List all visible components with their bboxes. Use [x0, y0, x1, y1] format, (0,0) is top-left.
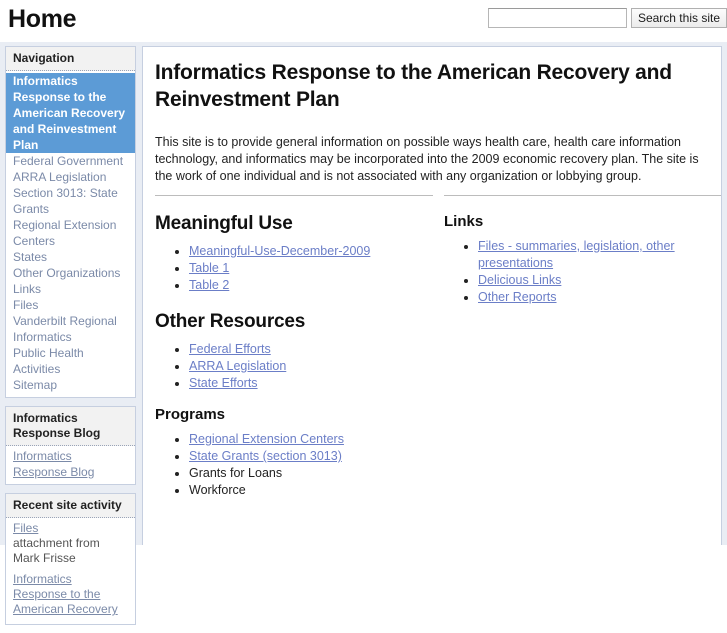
programs-item-0[interactable]: Regional Extension Centers [189, 431, 433, 448]
other-resources-link-1[interactable]: ARRA Legislation [189, 359, 286, 373]
links-item-0[interactable]: Files - summaries, legislation, other pr… [478, 238, 722, 272]
activity-link-1[interactable]: Informatics Response to the American Rec… [13, 572, 118, 616]
list-links: Files - summaries, legislation, other pr… [444, 238, 722, 306]
meaningful-use-link-0[interactable]: Meaningful-Use-December-2009 [189, 244, 370, 258]
content-title: Informatics Response to the American Rec… [155, 59, 709, 113]
main-content: Informatics Response to the American Rec… [142, 46, 722, 545]
sidebar-heading-activity: Recent site activity [6, 494, 135, 518]
meaningful-use-item-0[interactable]: Meaningful-Use-December-2009 [189, 243, 433, 260]
meaningful-use-link-2[interactable]: Table 2 [189, 278, 229, 292]
sidebar-nav-list: Informatics Response to the American Rec… [6, 71, 135, 393]
heading-meaningful-use: Meaningful Use [155, 213, 433, 235]
programs-item-3: Workforce [189, 482, 433, 499]
list-other-resources: Federal EffortsARRA LegislationState Eff… [155, 341, 433, 392]
activity-link-0[interactable]: Files [13, 521, 38, 535]
sidebar-nav-item-11[interactable]: Sitemap [6, 377, 135, 393]
heading-other-resources: Other Resources [155, 311, 433, 333]
links-item-1[interactable]: Delicious Links [478, 272, 722, 289]
sidebar-nav-item-7[interactable]: Links [6, 281, 135, 297]
sidebar-box-activity: Recent site activity Filesattachment fro… [5, 493, 136, 625]
sidebar-heading-blog: Informatics Response Blog [6, 407, 135, 446]
sidebar-nav-item-1[interactable]: Federal Government [6, 153, 135, 169]
sidebar-nav-item-10[interactable]: Public Health Activities [6, 345, 135, 377]
page-title: Home [8, 5, 76, 34]
sidebar-nav-item-2[interactable]: ARRA Legislation [6, 169, 135, 185]
sidebar-heading-navigation: Navigation [6, 47, 135, 71]
search-area: Search this site [488, 8, 727, 28]
right-column: Links Files - summaries, legislation, ot… [444, 195, 722, 499]
sidebar-nav-item-9[interactable]: Vanderbilt Regional Informatics [6, 313, 135, 345]
programs-link-0[interactable]: Regional Extension Centers [189, 432, 344, 446]
meaningful-use-link-1[interactable]: Table 1 [189, 261, 229, 275]
activity-item-0: Filesattachment from Mark Frisse [6, 518, 135, 569]
sidebar-nav-item-6[interactable]: Other Organizations [6, 265, 135, 281]
other-resources-item-1[interactable]: ARRA Legislation [189, 358, 433, 375]
intro-paragraph: This site is to provide general informat… [155, 134, 705, 185]
search-button[interactable]: Search this site [631, 8, 727, 28]
links-link-1[interactable]: Delicious Links [478, 273, 561, 287]
other-resources-item-2[interactable]: State Efforts [189, 375, 433, 392]
sidebar-blog-list: Informatics Response Blog [6, 446, 135, 480]
programs-link-1[interactable]: State Grants (section 3013) [189, 449, 342, 463]
list-programs: Regional Extension CentersState Grants (… [155, 431, 433, 499]
right-column-divider [444, 195, 722, 196]
content-columns: Meaningful Use Meaningful-Use-December-2… [155, 195, 709, 499]
left-column-divider [155, 195, 433, 196]
other-resources-link-2[interactable]: State Efforts [189, 376, 258, 390]
activity-item-1: Informatics Response to the American Rec… [6, 569, 135, 620]
links-item-2[interactable]: Other Reports [478, 289, 722, 306]
meaningful-use-item-2[interactable]: Table 2 [189, 277, 433, 294]
sidebar-box-blog: Informatics Response Blog Informatics Re… [5, 406, 136, 485]
links-link-2[interactable]: Other Reports [478, 290, 557, 304]
other-resources-item-0[interactable]: Federal Efforts [189, 341, 433, 358]
programs-item-2: Grants for Loans [189, 465, 433, 482]
activity-meta-0: attachment from Mark Frisse [13, 536, 129, 566]
sidebar-blog-link-0[interactable]: Informatics Response Blog [6, 448, 135, 480]
sidebar-nav-item-0[interactable]: Informatics Response to the American Rec… [6, 73, 135, 153]
search-input[interactable] [488, 8, 627, 28]
left-column: Meaningful Use Meaningful-Use-December-2… [155, 195, 433, 499]
sidebar-activity-list: Filesattachment from Mark FrisseInformat… [6, 518, 135, 620]
sidebar-box-navigation: Navigation Informatics Response to the A… [5, 46, 136, 398]
meaningful-use-item-1[interactable]: Table 1 [189, 260, 433, 277]
sidebar-nav-item-3[interactable]: Section 3013: State Grants [6, 185, 135, 217]
sidebar-nav-item-4[interactable]: Regional Extension Centers [6, 217, 135, 249]
heading-links: Links [444, 213, 722, 230]
other-resources-link-0[interactable]: Federal Efforts [189, 342, 271, 356]
sidebar-nav-item-5[interactable]: States [6, 249, 135, 265]
links-link-0[interactable]: Files - summaries, legislation, other pr… [478, 239, 675, 270]
page-body: Navigation Informatics Response to the A… [0, 42, 727, 545]
programs-item-1[interactable]: State Grants (section 3013) [189, 448, 433, 465]
site-header: Home Search this site [0, 0, 727, 42]
heading-programs: Programs [155, 406, 433, 423]
sidebar-nav-item-8[interactable]: Files [6, 297, 135, 313]
list-meaningful-use: Meaningful-Use-December-2009Table 1Table… [155, 243, 433, 294]
